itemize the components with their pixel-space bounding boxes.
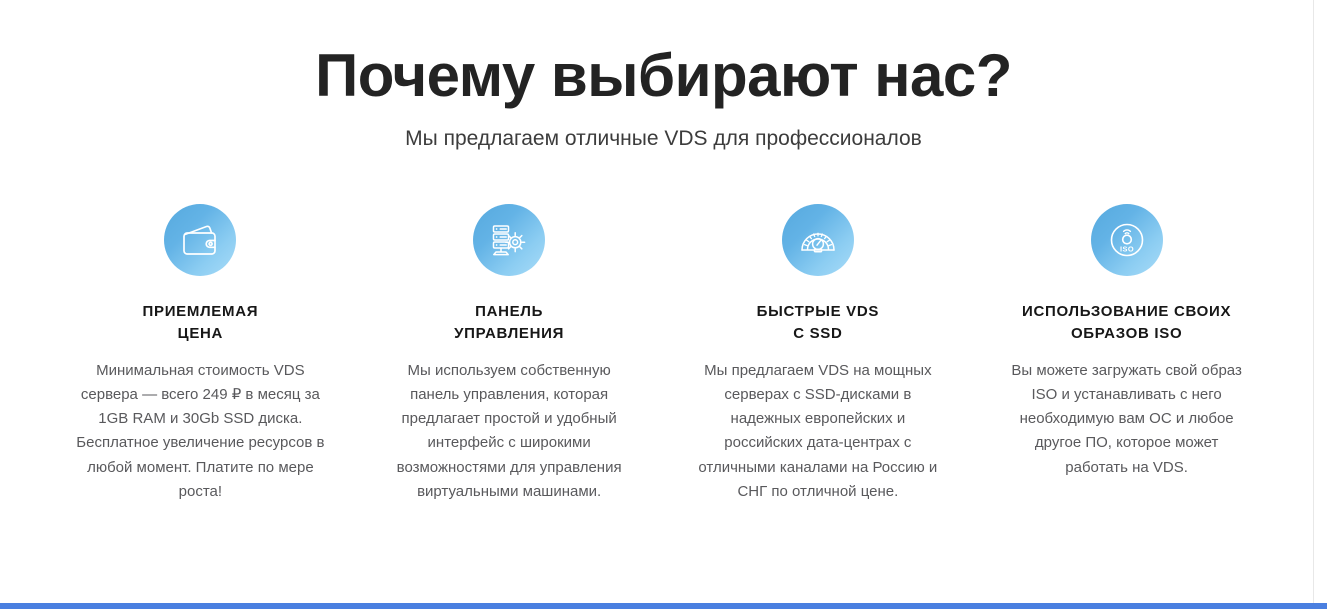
vertical-scrollbar[interactable] [1313,0,1327,603]
feature-title: БЫСТРЫЕ VDS С SSD [757,301,880,345]
feature-title: ПАНЕЛЬ УПРАВЛЕНИЯ [454,301,564,345]
svg-text:ISO: ISO [1120,244,1134,253]
feature-card-iso-images: ISO ИСПОЛЬЗОВАНИЕ СВОИХ ОБРАЗОВ ISO Вы м… [972,204,1281,504]
page-root: Почему выбирают нас? Мы предлагаем отлич… [0,0,1327,609]
feature-title-line1: ПАНЕЛЬ [475,303,543,320]
page-header: Почему выбирают нас? Мы предлагаем отлич… [0,0,1327,152]
feature-title-line1: ИСПОЛЬЗОВАНИЕ СВОИХ [1022,303,1231,320]
feature-title: ПРИЕМЛЕМАЯ ЦЕНА [143,301,259,345]
feature-body: Минимальная стоимость VDS сервера — всег… [75,359,325,505]
feature-card-fast-vds: БЫСТРЫЕ VDS С SSD Мы предлагаем VDS на м… [664,204,973,504]
feature-title: ИСПОЛЬЗОВАНИЕ СВОИХ ОБРАЗОВ ISO [1022,301,1231,345]
feature-title-line1: БЫСТРЫЕ VDS [757,303,880,320]
feature-body: Вы можете загружать свой образ ISO и уст… [1002,359,1252,480]
feature-card-control-panel: ПАНЕЛЬ УПРАВЛЕНИЯ Мы используем собствен… [355,204,664,504]
feature-body: Мы используем собственную панель управле… [384,359,634,505]
feature-title-line2: С SSD [793,325,842,342]
feature-card-price: ПРИЕМЛЕМАЯ ЦЕНА Минимальная стоимость VD… [46,204,355,504]
features-row: ПРИЕМЛЕМАЯ ЦЕНА Минимальная стоимость VD… [0,204,1327,504]
feature-title-line2: ЦЕНА [178,325,223,342]
page-title: Почему выбирают нас? [0,44,1327,109]
bottom-accent-bar [0,603,1327,609]
page-subtitle: Мы предлагаем отличные VDS для профессио… [0,125,1327,152]
wallet-icon [164,204,236,276]
speedometer-icon [782,204,854,276]
iso-disc-icon: ISO [1091,204,1163,276]
server-gear-icon [473,204,545,276]
feature-title-line2: ОБРАЗОВ ISO [1071,325,1182,342]
feature-body: Мы предлагаем VDS на мощных серверах с S… [693,359,943,505]
feature-title-line1: ПРИЕМЛЕМАЯ [143,303,259,320]
feature-title-line2: УПРАВЛЕНИЯ [454,325,564,342]
